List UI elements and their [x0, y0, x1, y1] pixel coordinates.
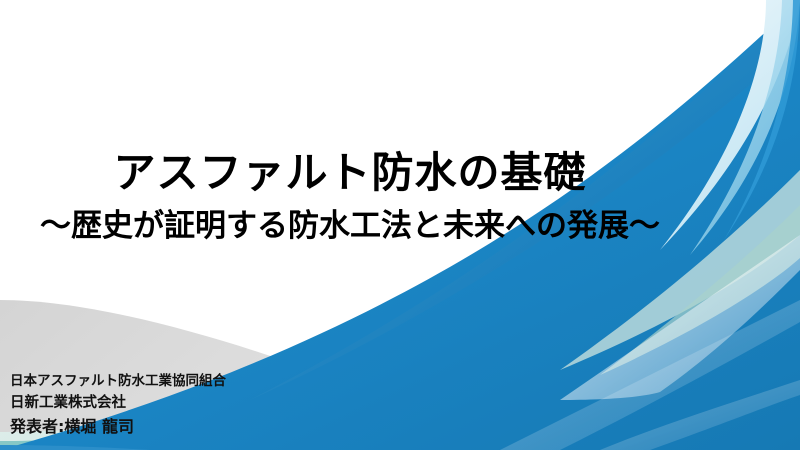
footer-company: 日新工業株式会社: [10, 392, 226, 415]
presentation-slide: アスファルト防水の基礎 〜歴史が証明する防水工法と未来への発展〜 日本アスファル…: [0, 0, 800, 450]
footer-block: 日本アスファルト防水工業協同組合 日新工業株式会社 発表者:横堀 龍司: [10, 370, 226, 439]
slide-text-layer: アスファルト防水の基礎 〜歴史が証明する防水工法と未来への発展〜 日本アスファル…: [0, 0, 800, 450]
footer-presenter: 発表者:横堀 龍司: [10, 415, 226, 439]
footer-organization: 日本アスファルト防水工業協同組合: [10, 370, 226, 392]
title-block: アスファルト防水の基礎 〜歴史が証明する防水工法と未来への発展〜: [0, 148, 700, 246]
page-subtitle: 〜歴史が証明する防水工法と未来への発展〜: [0, 206, 700, 246]
page-title: アスファルト防水の基礎: [0, 148, 700, 198]
